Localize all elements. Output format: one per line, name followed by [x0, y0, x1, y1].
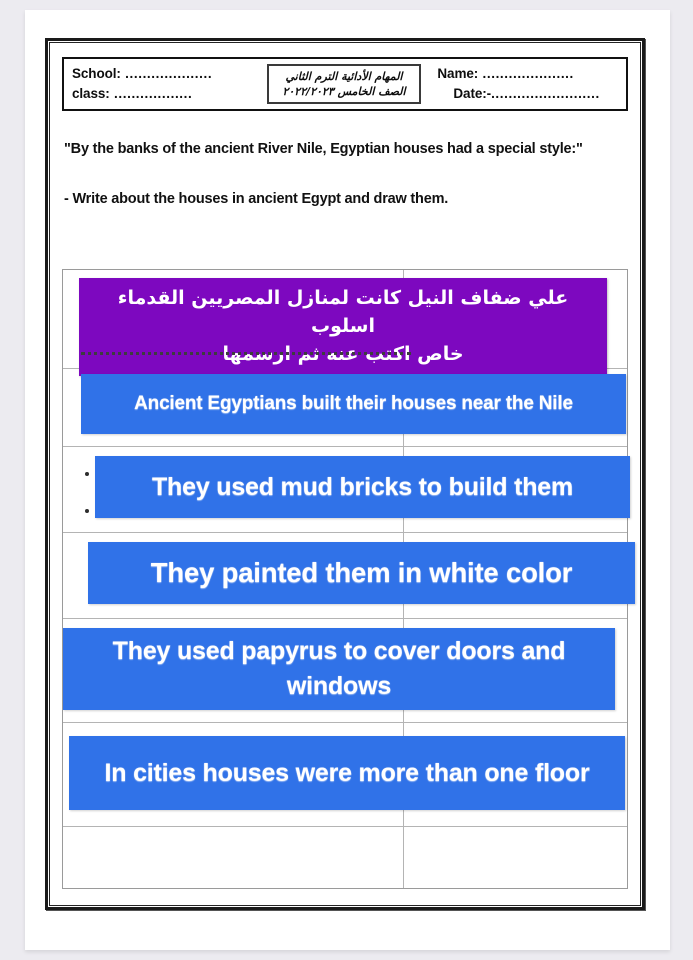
answer-text: Ancient Egyptians built their houses nea… — [134, 393, 573, 415]
date-label: Date:- — [453, 86, 491, 101]
answer-bar: Ancient Egyptians built their houses nea… — [81, 374, 626, 434]
answer-text: They used mud bricks to build them — [152, 473, 573, 502]
answer-bar: They painted them in white color — [88, 542, 635, 604]
school-field[interactable]: School: .................... — [72, 64, 251, 84]
table-row-divider — [63, 446, 627, 447]
answer-text: In cities houses were more than one floo… — [105, 759, 590, 788]
answer-bar: In cities houses were more than one floo… — [69, 736, 625, 810]
table-row-divider — [63, 722, 627, 723]
bullet-point-icon — [85, 509, 89, 513]
dotted-writing-line — [81, 352, 411, 355]
arabic-instruction-banner: علي ضفاف النيل كانت لمنازل المصريين القد… — [79, 278, 607, 376]
answer-text: They painted them in white color — [151, 557, 572, 589]
arabic-title-line-1: المهام الأدائية الترم الثاني — [275, 69, 414, 84]
table-row-divider — [63, 532, 627, 533]
table-row-divider — [63, 826, 627, 827]
arabic-title-cell: المهام الأدائية الترم الثاني الصف الخامس… — [259, 59, 430, 109]
paper-sheet: School: .................... class: ....… — [25, 10, 670, 950]
bullet-point-icon — [85, 472, 89, 476]
school-class-fields: School: .................... class: ....… — [64, 59, 259, 109]
worksheet-frame: School: .................... class: ....… — [45, 38, 645, 910]
answer-bar: They used mud bricks to build them — [95, 456, 630, 518]
name-field[interactable]: Name: ..................... — [437, 64, 618, 84]
date-dots: ......................... — [491, 86, 600, 101]
school-label: School: — [72, 66, 121, 81]
arabic-title-box: المهام الأدائية الترم الثاني الصف الخامس… — [267, 64, 422, 104]
answer-text: They used papyrus to cover doors and win… — [75, 634, 603, 704]
name-date-fields: Name: ..................... Date:-......… — [429, 59, 626, 109]
prompt-spacer — [64, 162, 624, 187]
class-label: class: — [72, 86, 110, 101]
class-dots: .................. — [110, 86, 193, 101]
name-label: Name: — [437, 66, 478, 81]
school-dots: .................... — [121, 66, 212, 81]
student-info-header: School: .................... class: ....… — [62, 57, 628, 111]
answer-table: علي ضفاف النيل كانت لمنازل المصريين القد… — [62, 269, 628, 889]
prompt-block: "By the banks of the ancient River Nile,… — [64, 137, 624, 212]
prompt-instruction: - Write about the houses in ancient Egyp… — [64, 187, 624, 212]
prompt-quote: "By the banks of the ancient River Nile,… — [64, 137, 624, 162]
arabic-title-line-2: الصف الخامس ٢٠٢٢/٢٠٢٣ — [275, 84, 414, 99]
class-field[interactable]: class: .................. — [72, 84, 251, 104]
banner-line-1: علي ضفاف النيل كانت لمنازل المصريين القد… — [89, 284, 597, 340]
table-row-divider — [63, 618, 627, 619]
answer-bar: They used papyrus to cover doors and win… — [63, 628, 615, 710]
name-dots: ..................... — [478, 66, 574, 81]
date-field[interactable]: Date:-......................... — [437, 84, 618, 104]
